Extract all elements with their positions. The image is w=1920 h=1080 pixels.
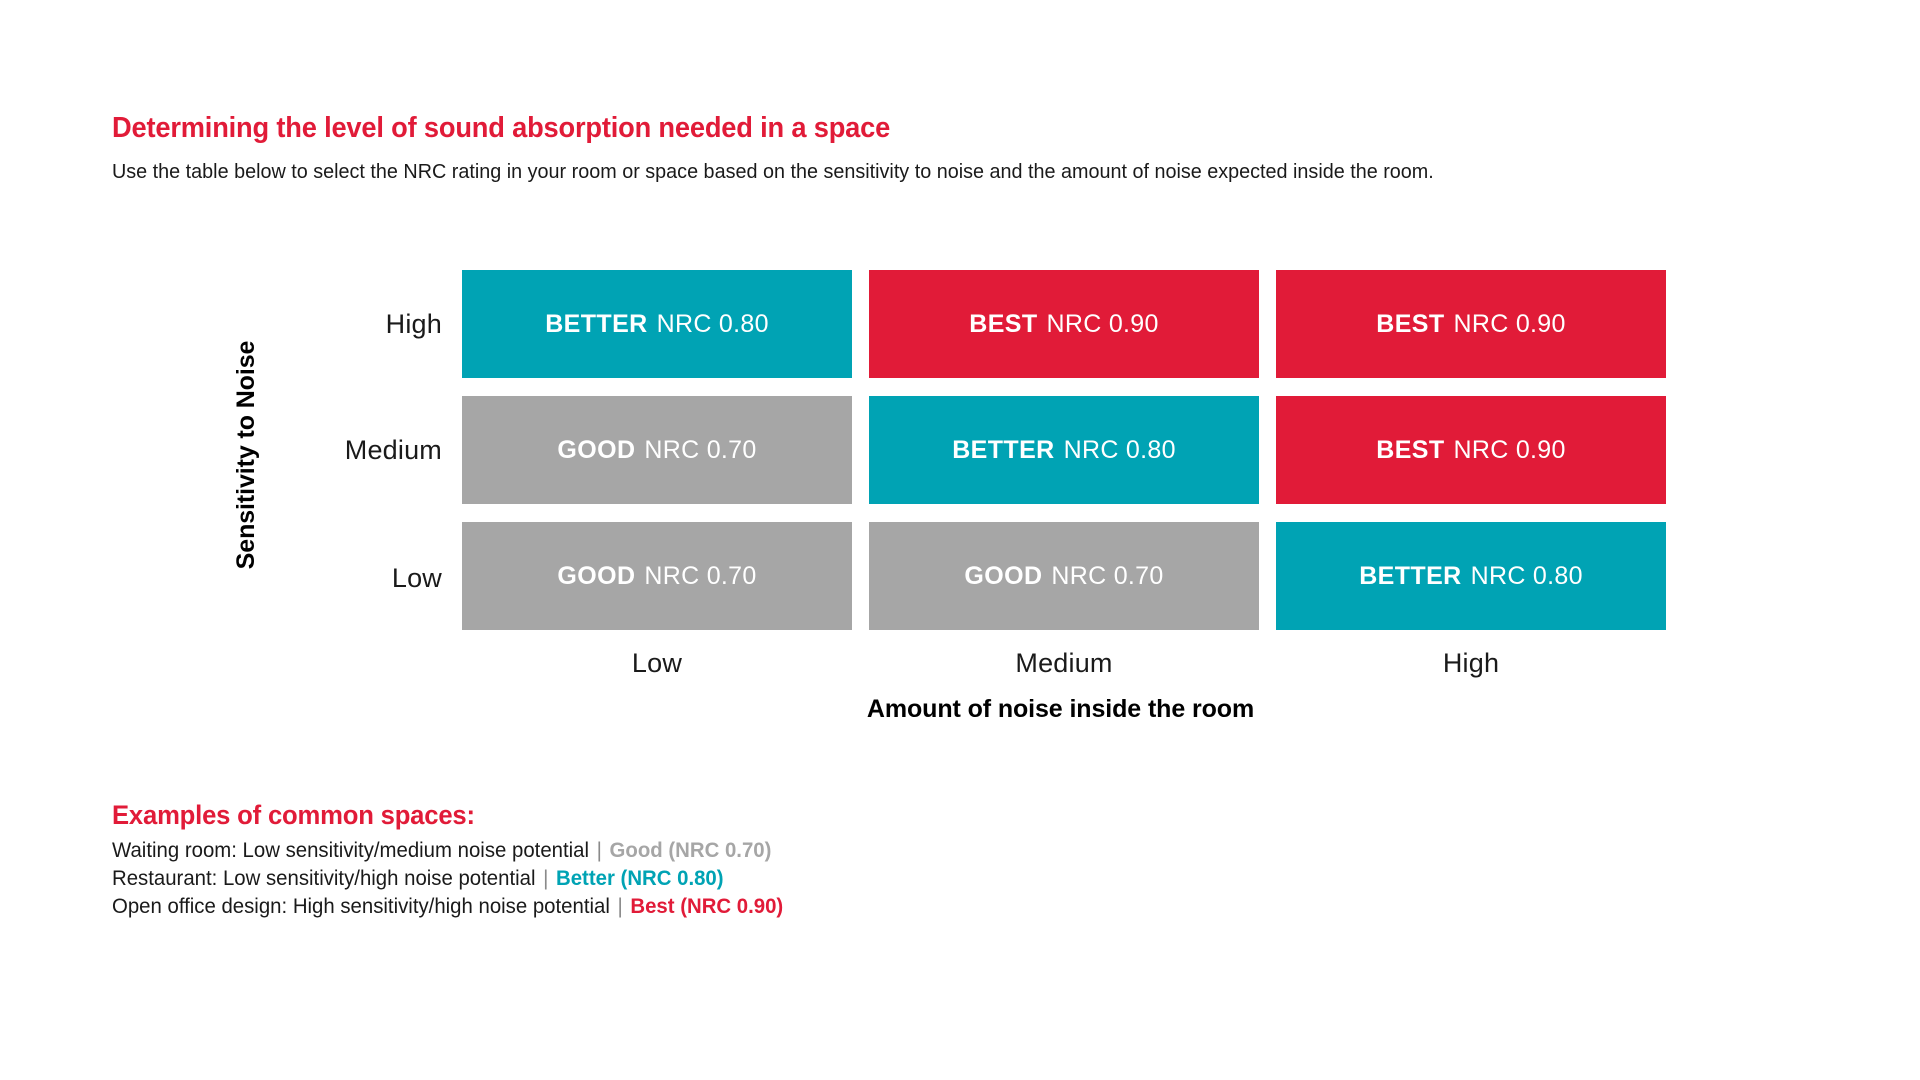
row-label-high: High xyxy=(300,270,442,378)
example-description: Open office design: High sensitivity/hig… xyxy=(112,895,610,918)
example-tag: Better (NRC 0.80) xyxy=(556,867,724,890)
cell-rank: BETTER xyxy=(545,310,647,339)
examples-section: Examples of common spaces: Waiting room:… xyxy=(112,800,1512,921)
matrix-cell[interactable]: GOOD NRC 0.70 xyxy=(462,522,852,630)
cell-rank: BETTER xyxy=(952,436,1054,465)
infographic-page: Determining the level of sound absorptio… xyxy=(0,0,1920,1080)
matrix-cell[interactable]: BEST NRC 0.90 xyxy=(1276,270,1666,378)
matrix-cell[interactable]: GOOD NRC 0.70 xyxy=(869,522,1259,630)
cell-nrc: NRC 0.90 xyxy=(1047,310,1159,339)
matrix-cell[interactable]: BEST NRC 0.90 xyxy=(869,270,1259,378)
cell-rank: BEST xyxy=(969,310,1037,339)
cell-rank: BEST xyxy=(1376,436,1444,465)
example-item: Restaurant: Low sensitivity/high noise p… xyxy=(112,865,1470,893)
x-axis-title: Amount of noise inside the room xyxy=(462,695,1659,724)
cell-nrc: NRC 0.80 xyxy=(657,310,769,339)
row-label-group: High Medium Low xyxy=(300,270,442,632)
cell-nrc: NRC 0.70 xyxy=(644,436,756,465)
matrix-cell[interactable]: BEST NRC 0.90 xyxy=(1276,396,1666,504)
row-label-low: Low xyxy=(300,524,442,632)
cell-nrc: NRC 0.80 xyxy=(1064,436,1176,465)
col-label-high: High xyxy=(1276,648,1666,679)
example-description: Waiting room: Low sensitivity/medium noi… xyxy=(112,839,589,862)
cell-nrc: NRC 0.70 xyxy=(644,562,756,591)
page-subtitle: Use the table below to select the NRC ra… xyxy=(112,158,1579,186)
cell-nrc: NRC 0.90 xyxy=(1454,310,1566,339)
y-axis-title: Sensitivity to Noise xyxy=(232,270,260,640)
cell-rank: GOOD xyxy=(557,436,635,465)
header: Determining the level of sound absorptio… xyxy=(112,112,1672,186)
cell-rank: GOOD xyxy=(557,562,635,591)
row-label-medium: Medium xyxy=(300,396,442,504)
example-separator: | xyxy=(617,895,622,918)
cell-nrc: NRC 0.80 xyxy=(1471,562,1583,591)
example-description: Restaurant: Low sensitivity/high noise p… xyxy=(112,867,535,890)
example-tag: Best (NRC 0.90) xyxy=(630,895,783,918)
example-item: Open office design: High sensitivity/hig… xyxy=(112,893,1470,921)
cell-rank: BETTER xyxy=(1359,562,1461,591)
examples-title: Examples of common spaces: xyxy=(112,800,1442,831)
column-label-group: Low Medium High xyxy=(462,648,1666,679)
cell-nrc: NRC 0.90 xyxy=(1454,436,1566,465)
example-separator: | xyxy=(543,867,548,890)
example-tag: Good (NRC 0.70) xyxy=(610,839,772,862)
page-title: Determining the level of sound absorptio… xyxy=(112,112,1578,145)
col-label-medium: Medium xyxy=(869,648,1259,679)
matrix-cell[interactable]: BETTER NRC 0.80 xyxy=(1276,522,1666,630)
example-item: Waiting room: Low sensitivity/medium noi… xyxy=(112,837,1470,865)
cell-nrc: NRC 0.70 xyxy=(1051,562,1163,591)
cell-rank: BEST xyxy=(1376,310,1444,339)
matrix-cell[interactable]: GOOD NRC 0.70 xyxy=(462,396,852,504)
matrix-cell[interactable]: BETTER NRC 0.80 xyxy=(462,270,852,378)
nrc-matrix-grid: BETTER NRC 0.80 BEST NRC 0.90 BEST NRC 0… xyxy=(462,270,1666,630)
cell-rank: GOOD xyxy=(964,562,1042,591)
col-label-low: Low xyxy=(462,648,852,679)
example-separator: | xyxy=(597,839,602,862)
matrix-cell[interactable]: BETTER NRC 0.80 xyxy=(869,396,1259,504)
